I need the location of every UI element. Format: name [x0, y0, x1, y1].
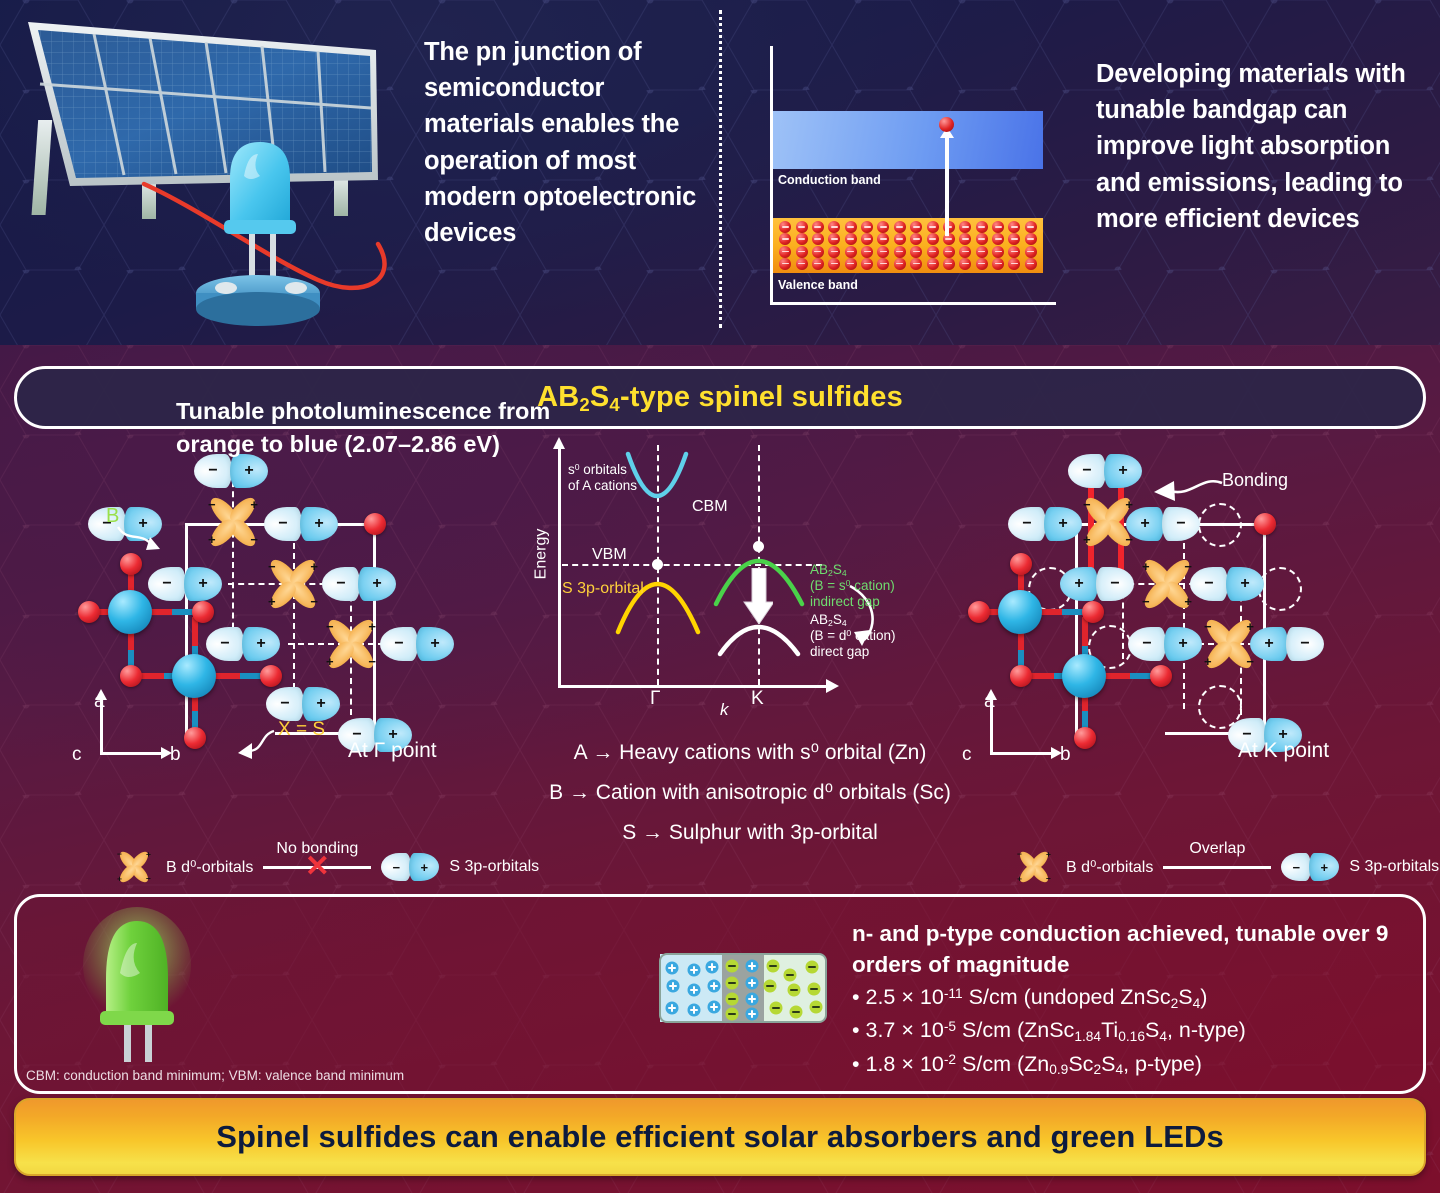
- annotation-vbm: VBM: [592, 546, 627, 565]
- orbital-lobe-positive: +: [1309, 853, 1339, 881]
- electron-icon: [812, 258, 824, 270]
- axis-c-label: c: [72, 744, 82, 766]
- orbital-lobe-negative: −: [1008, 507, 1046, 541]
- electron-icon: [877, 258, 889, 270]
- k-point-marker: [753, 541, 764, 552]
- electron-icon: [861, 246, 873, 258]
- electron-icon: [828, 246, 840, 258]
- b-cation-atom: [108, 590, 152, 634]
- orbital-lobe-positive: +: [1126, 507, 1164, 541]
- b-d0-orbital: −+ +−: [262, 553, 324, 615]
- footnote-abbreviations: CBM: conduction band minimum; VBM: valen…: [26, 1068, 404, 1083]
- b-d0-orbital: −+ +−: [202, 491, 264, 553]
- electron-icon: [877, 233, 889, 245]
- annotation-direct-gap: AB2S4(B = d0 cation)direct gap: [810, 612, 895, 660]
- s-3p-orbital-legend-icon: − +: [381, 853, 439, 881]
- orbital-lobe-positive: +: [1250, 627, 1288, 661]
- electron-icon: [796, 246, 808, 258]
- electron-icon: [877, 221, 889, 233]
- solar-panel-illustration: [18, 8, 418, 333]
- headline-left: The pn junction of semiconductor materia…: [424, 34, 704, 251]
- b-d0-orbital-legend-icon: −+ +−: [115, 848, 152, 885]
- lattice-guide: [293, 523, 295, 709]
- label-X-pointer: [218, 725, 280, 765]
- electron-icon: [1008, 233, 1020, 245]
- cross-icon: ✕: [305, 852, 330, 882]
- electron-icon: [976, 233, 988, 245]
- orbital-lobe-positive: +: [416, 627, 454, 661]
- top-section: The pn junction of semiconductor materia…: [0, 0, 1440, 345]
- band-diagram: Conduction band Valence band: [756, 28, 1056, 318]
- definition-A: A → Heavy cations with s⁰ orbital (Zn): [500, 733, 1000, 773]
- label-X-equals-S: X = S: [278, 719, 325, 741]
- electron-icon: [1025, 233, 1037, 245]
- s-3p-orbital: + −: [1250, 627, 1324, 661]
- annotation-cbm-source: s0 orbitalsof A cations: [568, 462, 637, 494]
- conductivity-block: n- and p-type conduction achieved, tunab…: [852, 919, 1412, 1080]
- electron-icon: [959, 258, 971, 270]
- valence-band-label: Valence band: [778, 278, 858, 292]
- electron-icon: [1008, 246, 1020, 258]
- band-structure-chart: Energy k: [540, 440, 960, 720]
- orbital-lobe-negative: −: [1286, 627, 1324, 661]
- electron-icon: [959, 221, 971, 233]
- s-3p-orbital: − +: [1128, 627, 1202, 661]
- sulphur-atom: [968, 601, 990, 623]
- legend-right-text: S 3p-orbitals: [449, 858, 539, 876]
- s-3p-orbital: − +: [322, 567, 396, 601]
- definitions-block: A → Heavy cations with s⁰ orbital (Zn) B…: [500, 733, 1000, 853]
- electron-icon: [796, 258, 808, 270]
- gamma-point-label: At Γ point: [348, 739, 437, 763]
- electron-icon: [992, 258, 1004, 270]
- b-cation-atom: [172, 654, 216, 698]
- photoluminescence-text: Tunable photoluminescence from orange to…: [176, 395, 596, 462]
- legend-connector-overlap: Overlap: [1163, 866, 1271, 869]
- sulphur-atom: [1150, 665, 1172, 687]
- vacancy-marker: [1258, 567, 1302, 611]
- orbital-sign: +: [1083, 532, 1091, 547]
- axis-a-label: a: [984, 691, 995, 713]
- electron-icon: [845, 221, 857, 233]
- electron-icon: [910, 233, 922, 245]
- band-diagram-x-axis: [770, 302, 1056, 305]
- electron-icon: [877, 246, 889, 258]
- legend-left-text: B d⁰-orbitals: [166, 857, 253, 877]
- sulphur-atom: [120, 665, 142, 687]
- s-3p-orbital: − +: [1190, 567, 1264, 601]
- conduction-band-block: [773, 111, 1043, 169]
- orbital-lobe-positive: +: [300, 507, 338, 541]
- b-d0-orbital: +− −+: [1136, 553, 1198, 615]
- orbital-lobe-negative: −: [380, 627, 418, 661]
- orbital-lobe-negative: −: [264, 507, 302, 541]
- electron-icon: [861, 258, 873, 270]
- electron-icon: [910, 221, 922, 233]
- electron-icon: [1008, 221, 1020, 233]
- electron-icon: [779, 246, 791, 258]
- conclusion-banner-text: Spinel sulfides can enable efficient sol…: [216, 1119, 1224, 1155]
- green-led-icon: [82, 907, 192, 1057]
- label-B-pointer: [112, 523, 168, 563]
- electron-icon: [976, 258, 988, 270]
- electron-icon: [959, 246, 971, 258]
- orbital-sign: −: [1083, 497, 1091, 512]
- orbital-lobe-negative: −: [381, 853, 411, 881]
- pn-junction-diagram-icon: [658, 952, 828, 1024]
- orbital-lobe-positive: +: [1164, 627, 1202, 661]
- sulphur-atom: [1082, 601, 1104, 623]
- x-tick-k: K: [751, 688, 764, 710]
- legend-caption: Overlap: [1189, 840, 1245, 858]
- sulphur-atom: [192, 601, 214, 623]
- orbital-lobe-negative: −: [1162, 507, 1200, 541]
- orbital-sign: +: [268, 594, 276, 609]
- electron-icon: [927, 258, 939, 270]
- electron-icon: [779, 233, 791, 245]
- legend-no-bonding: −+ +− B d⁰-orbitals No bonding ✕ − + S 3…: [112, 845, 539, 889]
- orbital-lobe-negative: −: [322, 567, 360, 601]
- legend-connector-no-bonding: No bonding ✕: [263, 866, 371, 869]
- orbital-sign: −: [268, 559, 276, 574]
- electron-icon: [779, 221, 791, 233]
- electron-icon: [976, 246, 988, 258]
- orbital-lobe-positive: +: [358, 567, 396, 601]
- electron-icon: [894, 233, 906, 245]
- s-3p-orbital-legend-icon: − +: [1281, 853, 1339, 881]
- orbital-sign: −: [1142, 594, 1150, 609]
- axis-a-label: a: [94, 691, 105, 713]
- electron-icon: [927, 246, 939, 258]
- s-3p-orbital: + −: [1060, 567, 1134, 601]
- orbital-lobe-positive: +: [1060, 567, 1098, 601]
- b-d0-orbital-legend-icon: −+ +−: [1015, 848, 1052, 885]
- orbital-lobe-positive: +: [302, 687, 340, 721]
- orbital-sign: +: [208, 532, 216, 547]
- orbital-sign: +: [326, 654, 334, 669]
- axis-b-label: b: [1060, 744, 1071, 766]
- electron-icon: [845, 246, 857, 258]
- annotation-cbm: CBM: [692, 498, 728, 517]
- electron-icon: [943, 246, 955, 258]
- annotation-vb-source: S 3p-orbital: [562, 580, 644, 599]
- electron-icon: [779, 258, 791, 270]
- bonding-label: Bonding: [1222, 470, 1288, 491]
- electron-icon: [927, 233, 939, 245]
- electron-icon: [812, 233, 824, 245]
- s-3p-orbital: − +: [264, 507, 338, 541]
- headline-right: Developing materials with tunable bandga…: [1096, 56, 1416, 237]
- legend-overlap: −+ +− B d⁰-orbitals Overlap − + S 3p-orb…: [1012, 845, 1439, 889]
- electron-icon: [992, 233, 1004, 245]
- electron-icon: [796, 221, 808, 233]
- orbital-sign: +: [1142, 559, 1150, 574]
- conduction-band-label: Conduction band: [778, 173, 881, 187]
- electron-icon: [943, 258, 955, 270]
- orbital-lobe-negative: −: [1190, 567, 1228, 601]
- sulphur-atom: [1010, 665, 1032, 687]
- orbital-lobe-negative: −: [266, 687, 304, 721]
- electron-icon: [992, 221, 1004, 233]
- gamma-point-orbital-diagram: − + − + −+ +− − + − +: [60, 445, 540, 825]
- electron-icon: [828, 258, 840, 270]
- orbital-sign: −: [368, 654, 376, 669]
- legend-left-text: B d⁰-orbitals: [1066, 857, 1153, 877]
- electron-icon: [959, 233, 971, 245]
- conductivity-header: n- and p-type conduction achieved, tunab…: [852, 919, 1412, 980]
- orbital-sign: −: [326, 619, 334, 634]
- electron-icon: [845, 258, 857, 270]
- orbital-lobe-negative: −: [1128, 627, 1166, 661]
- valence-band-block: [773, 218, 1043, 273]
- electron-icon: [894, 221, 906, 233]
- orbital-lobe-negative: −: [148, 567, 186, 601]
- electron-icon: [1025, 246, 1037, 258]
- electron-icon: [976, 221, 988, 233]
- sulphur-atom: [1010, 553, 1032, 575]
- s-3p-orbital: + −: [1126, 507, 1200, 541]
- axis-b-arrow-icon: [100, 752, 162, 755]
- orbital-sign: +: [250, 497, 258, 512]
- electron-icon: [828, 221, 840, 233]
- lattice-guide: [1183, 523, 1185, 709]
- orbital-sign: −: [1204, 619, 1212, 634]
- orbital-sign: −: [250, 532, 258, 547]
- axis-b-label: b: [170, 744, 181, 766]
- electron-icon: [927, 221, 939, 233]
- electron-icon: [910, 258, 922, 270]
- orbital-lobe-negative: −: [1068, 454, 1106, 488]
- conductivity-bullet-3: • 1.8 × 10-2 S/cm (Zn0.9Sc2S4, p-type): [852, 1049, 1412, 1080]
- electron-icon: [1008, 258, 1020, 270]
- orbital-sign: −: [310, 594, 318, 609]
- electron-icon: [894, 246, 906, 258]
- electron-icon: [910, 246, 922, 258]
- graphical-abstract: The pn junction of semiconductor materia…: [0, 0, 1440, 1193]
- sulphur-atom: [364, 513, 386, 535]
- annotation-indirect-gap: AB2S4(B = s0 cation)indirect gap: [810, 562, 895, 610]
- electron-icon: [861, 233, 873, 245]
- orbital-lobe-negative: −: [1281, 853, 1311, 881]
- s-3p-orbital: − +: [206, 627, 280, 661]
- electron-icon: [812, 246, 824, 258]
- bonding-pointer-arrow-icon: [1130, 471, 1228, 511]
- orbital-lobe-negative: −: [1096, 567, 1134, 601]
- orbital-sign: +: [1204, 654, 1212, 669]
- vertical-dotted-divider: [719, 10, 722, 328]
- orbital-sign: +: [310, 559, 318, 574]
- electron-icon: [894, 258, 906, 270]
- s-3p-orbital: − +: [266, 687, 340, 721]
- conductivity-bullet-2: • 3.7 × 10-5 S/cm (ZnSc1.84Ti0.16S4, n-t…: [852, 1015, 1412, 1046]
- electron-icon: [828, 233, 840, 245]
- s-3p-orbital: − +: [380, 627, 454, 661]
- sulphur-atom: [260, 665, 282, 687]
- conclusion-banner: Spinel sulfides can enable efficient sol…: [14, 1098, 1426, 1176]
- excited-electron-icon: [939, 117, 954, 132]
- s-3p-orbital: − +: [148, 567, 222, 601]
- s-3p-orbital: − +: [1008, 507, 1082, 541]
- orbital-sign: −: [208, 497, 216, 512]
- definition-B: B → Cation with anisotropic d⁰ orbitals …: [500, 773, 1000, 813]
- x-tick-gamma: Γ: [650, 688, 660, 710]
- sulphur-atom: [78, 601, 100, 623]
- electron-icon: [992, 246, 1004, 258]
- orbital-lobe-positive: +: [409, 853, 439, 881]
- b-d0-orbital: −+ +−: [320, 613, 382, 675]
- definition-S: S → Sulphur with 3p-orbital: [500, 813, 1000, 853]
- orbital-lobe-positive: +: [242, 627, 280, 661]
- electron-icon: [1025, 258, 1037, 270]
- orbital-lobe-positive: +: [1226, 567, 1264, 601]
- excitation-arrow-icon: [945, 136, 949, 236]
- orbital-lobe-positive: +: [184, 567, 222, 601]
- crystal-axes-left: a b c: [82, 695, 192, 755]
- electron-icon: [1025, 221, 1037, 233]
- legend-right-text: S 3p-orbitals: [1349, 858, 1439, 876]
- b-cation-atom: [1062, 654, 1106, 698]
- sulphur-atom: [1254, 513, 1276, 535]
- electron-icon: [796, 233, 808, 245]
- orbital-sign: +: [368, 619, 376, 634]
- k-point-orbital-diagram: − + − + −+ +− + − + − +−: [950, 445, 1430, 825]
- band-lowering-arrow-icon: [743, 568, 773, 624]
- vbm-point-marker: [652, 559, 663, 570]
- conductivity-bullet-1: • 2.5 × 10-11 S/cm (undoped ZnSc2S4): [852, 982, 1412, 1013]
- curve-direct-gap: [720, 627, 798, 654]
- electron-icon: [861, 221, 873, 233]
- electron-icon: [812, 221, 824, 233]
- k-point-label: At K point: [1238, 739, 1329, 763]
- b-cation-atom: [998, 590, 1042, 634]
- electron-icon: [845, 233, 857, 245]
- orbital-lobe-negative: −: [206, 627, 244, 661]
